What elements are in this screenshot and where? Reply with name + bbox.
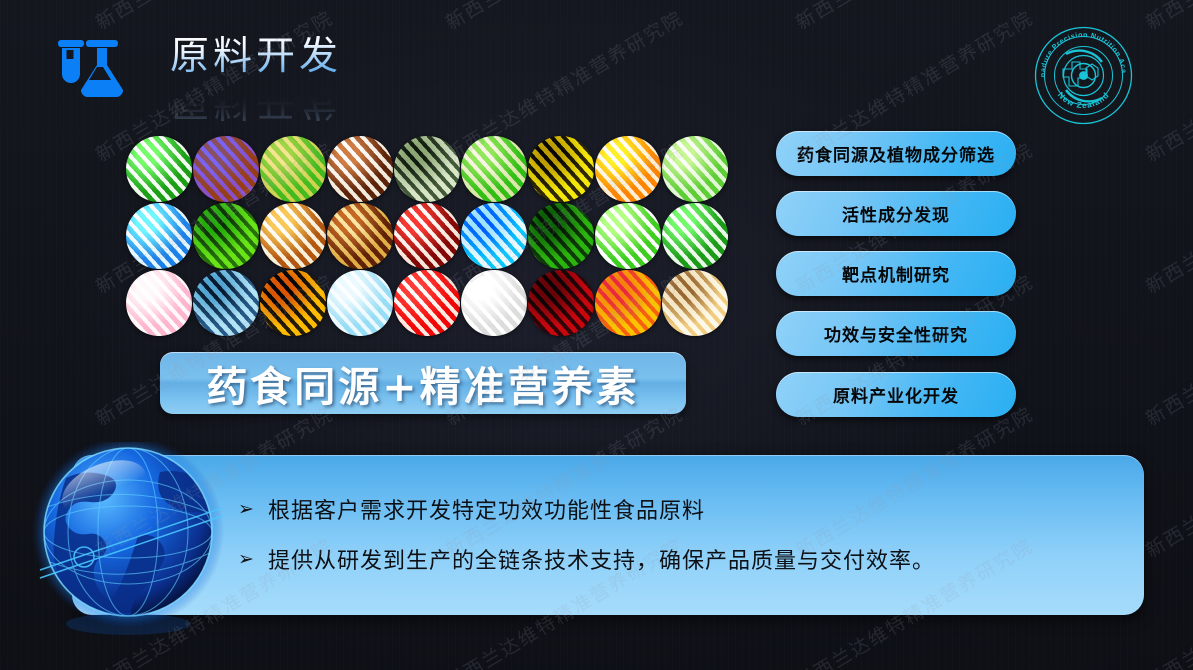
ingredient-thumb-molecule-blue bbox=[126, 203, 192, 269]
watermark-text: 新西兰达维特精准营养研究院 bbox=[790, 663, 1038, 670]
page-title-reflection: 原料开发 bbox=[170, 79, 342, 121]
watermark-text: 新西兰达维特精准营养研究院 bbox=[790, 0, 1038, 35]
watermark-text: 新西兰达维特精准营养研究院 bbox=[90, 0, 338, 35]
ingredient-thumb-green-gourd bbox=[662, 136, 728, 202]
watermark-text: 新西兰达维特精准营养研究院 bbox=[1140, 531, 1193, 670]
summary-bullet-list: ➢根据客户需求开发特定功效功能性食品原料➢提供从研发到生产的全链条技术支持，确保… bbox=[238, 497, 935, 596]
ingredient-thumb-grain-tray bbox=[327, 203, 393, 269]
ingredient-thumb-flax-flower bbox=[193, 136, 259, 202]
ingredient-thumb-green-vegetable-bowl bbox=[260, 136, 326, 202]
bullet-arrow-icon: ➢ bbox=[238, 547, 268, 573]
highlight-banner-text: 药食同源+精准营养素 bbox=[206, 353, 639, 413]
ingredient-thumb-mangosteen bbox=[528, 270, 594, 336]
process-button-label: 药食同源及植物成分筛选 bbox=[797, 141, 995, 166]
watermark-text: 新西兰达维特精准营养研究院 bbox=[1140, 267, 1193, 431]
ingredient-thumb-blue-crystal bbox=[193, 270, 259, 336]
process-button-1[interactable]: 药食同源及植物成分筛选 bbox=[776, 131, 1016, 176]
watermark-text: 新西兰达维特精准营养研究院 bbox=[1140, 399, 1193, 563]
watermark-text: 新西兰达维特精准营养研究院 bbox=[440, 663, 688, 670]
ingredient-thumb-yellow-blossom bbox=[528, 136, 594, 202]
ingredient-thumb-cocoa-grains bbox=[327, 136, 393, 202]
highlight-banner: 药食同源+精准营养素 bbox=[160, 352, 686, 414]
process-button-label: 活性成分发现 bbox=[842, 201, 950, 226]
ingredient-thumb-passion-fruit bbox=[595, 270, 661, 336]
watermark-text: 新西兰达维特精准营养研究院 bbox=[1140, 135, 1193, 299]
bullet-arrow-icon: ➢ bbox=[238, 497, 268, 523]
summary-bullet-text: 提供从研发到生产的全链条技术支持，确保产品质量与交付效率。 bbox=[268, 547, 935, 577]
summary-bullet-1: ➢根据客户需求开发特定功效功能性食品原料 bbox=[238, 497, 935, 527]
process-button-label: 功效与安全性研究 bbox=[824, 321, 968, 346]
watermark-text: 新西兰达维特精准营养研究院 bbox=[1140, 3, 1193, 167]
ingredient-thumb-pine-needles bbox=[662, 203, 728, 269]
summary-bullet-2: ➢提供从研发到生产的全链条技术支持，确保产品质量与交付效率。 bbox=[238, 547, 935, 577]
ingredient-thumb-brown-seed-scoop bbox=[260, 203, 326, 269]
ingredient-thumb-cherry-tomatoes bbox=[394, 270, 460, 336]
ingredient-thumb-orange-spice-bowl bbox=[595, 136, 661, 202]
ingredient-thumb-frosted-herb bbox=[394, 136, 460, 202]
process-button-label: 靶点机制研究 bbox=[842, 261, 950, 286]
ingredient-thumb-leafy-greens bbox=[461, 136, 527, 202]
summary-bullet-text: 根据客户需求开发特定功效功能性食品原料 bbox=[268, 497, 705, 527]
ingredient-thumb-green-sprouts bbox=[193, 203, 259, 269]
process-button-3[interactable]: 靶点机制研究 bbox=[776, 251, 1016, 296]
ingredient-thumb-red-beans bbox=[394, 203, 460, 269]
process-button-2[interactable]: 活性成分发现 bbox=[776, 191, 1016, 236]
watermark-text: 新西兰达维特精准营养研究院 bbox=[440, 0, 688, 35]
ingredient-thumb-molecule-white bbox=[461, 270, 527, 336]
ingredient-thumb-fish-blue-water bbox=[461, 203, 527, 269]
ingredient-thumb-mint-leaves bbox=[595, 203, 661, 269]
watermark-text: 新西兰达维特精准营养研究院 bbox=[1140, 0, 1193, 35]
watermark-text: 新西兰达维特精准营养研究院 bbox=[90, 663, 338, 670]
process-button-label: 原料产业化开发 bbox=[833, 382, 959, 407]
highlight-banner-reflection: 药食同源+精准营养素 bbox=[160, 414, 686, 444]
page-title-block: 原料开发 原料开发 bbox=[170, 36, 342, 121]
page-title: 原料开发 bbox=[170, 36, 342, 78]
ingredient-thumb-blue-droplets bbox=[327, 270, 393, 336]
ingredient-thumb-pink-bubbles bbox=[126, 270, 192, 336]
process-button-5[interactable]: 原料产业化开发 bbox=[776, 372, 1016, 417]
ingredient-thumb-clover-herb bbox=[126, 136, 192, 202]
ingredient-thumb-dried-lily-bulb bbox=[662, 270, 728, 336]
watermark-text: 新西兰达维特精准营养研究院 bbox=[1140, 663, 1193, 670]
slide-root: 原料开发 原料开发 Davinadure Precision Nutrition… bbox=[0, 0, 1193, 670]
blue-globe-graphic bbox=[32, 442, 232, 638]
ingredient-thumb-golden-kumquats bbox=[260, 270, 326, 336]
process-button-4[interactable]: 功效与安全性研究 bbox=[776, 311, 1016, 356]
flask-and-test-tube-icon bbox=[56, 36, 126, 98]
academy-seal-logo: Davinadure Precision Nutrition Academy N… bbox=[1032, 24, 1135, 127]
ingredient-thumb-green-broccoli bbox=[528, 203, 594, 269]
